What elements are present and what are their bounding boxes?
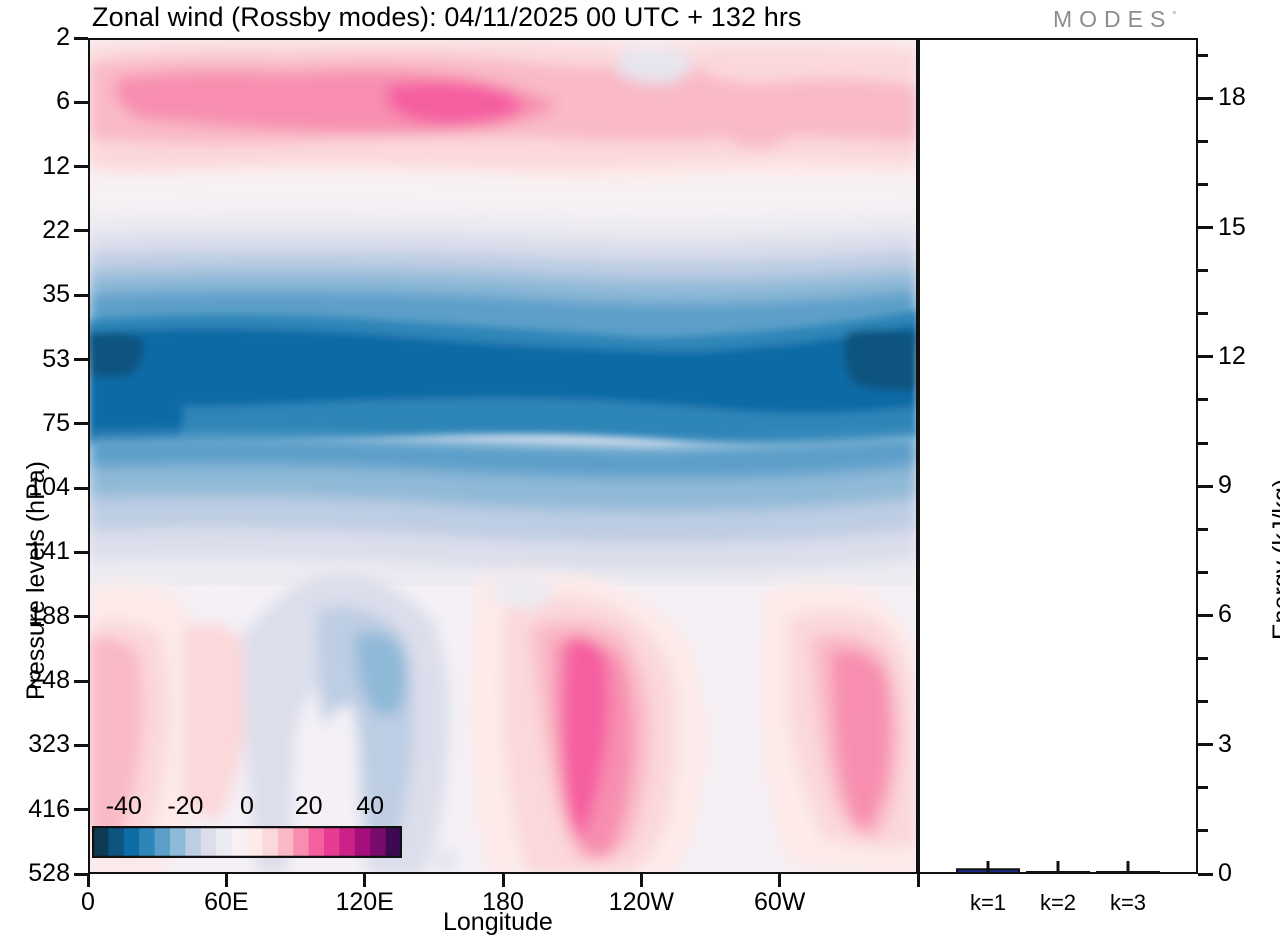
colorbar-swatch: [108, 827, 124, 857]
energy-minor-tick-mark: [1198, 829, 1208, 832]
energy-minor-tick-mark: [1198, 571, 1208, 574]
energy-tick-mark: [1198, 97, 1213, 100]
colorbar-swatch: [216, 827, 232, 857]
energy-minor-tick-mark: [1198, 700, 1208, 703]
watermark-degree-icon: °: [1172, 10, 1176, 21]
pressure-axis: 261222355375104141188248323416528: [0, 38, 88, 874]
longitude-tick-mark: [502, 874, 505, 887]
colorbar-swatch: [278, 827, 294, 857]
pressure-tick-label: 323: [0, 730, 70, 759]
longitude-tick-mark: [87, 874, 90, 887]
colorbar-swatch: [309, 827, 325, 857]
pressure-tick-mark: [74, 358, 88, 361]
longitude-tick-label: 120E: [315, 888, 415, 917]
longitude-tick-label: 120W: [591, 888, 691, 917]
energy-tick-label: 12: [1218, 342, 1246, 371]
wavenumber-labels: k=1k=2k=3: [918, 874, 1198, 924]
energy-tick-label: 9: [1218, 471, 1232, 500]
pressure-tick-mark: [74, 37, 88, 40]
colorbar-tick-label: 40: [320, 792, 420, 821]
colorbar-swatch: [170, 827, 186, 857]
energy-tick-label: 15: [1218, 213, 1246, 242]
pressure-tick-label: 35: [0, 280, 70, 309]
colorbar-swatch: [324, 827, 340, 857]
pressure-tick-label: 416: [0, 795, 70, 824]
pressure-tick-mark: [74, 229, 88, 232]
colorbar-swatch: [293, 827, 309, 857]
colorbar: -40-2002040: [92, 792, 412, 858]
energy-tick-mark: [1198, 355, 1213, 358]
energy-tick-mark: [1198, 743, 1213, 746]
pressure-tick-mark: [74, 165, 88, 168]
energy-tick-label: 6: [1218, 600, 1232, 629]
pressure-tick-mark: [74, 551, 88, 554]
colorbar-swatch: [124, 827, 140, 857]
pressure-tick-label: 12: [0, 152, 70, 181]
pressure-tick-mark: [74, 487, 88, 490]
energy-minor-tick-mark: [1198, 398, 1208, 401]
longitude-tick-label: 60E: [176, 888, 276, 917]
colorbar-swatch: [185, 827, 201, 857]
longitude-tick-mark: [225, 874, 228, 887]
contour-field: [88, 38, 918, 874]
colorbar-swatch: [155, 827, 171, 857]
pressure-tick-label: 22: [0, 216, 70, 245]
colorbar-swatch: [262, 827, 278, 857]
longitude-axis-title: Longitude: [443, 908, 553, 937]
pressure-tick-label: 6: [0, 87, 70, 116]
contour-plot: [88, 38, 918, 874]
modes-watermark: MODES°: [1053, 6, 1176, 33]
pressure-tick-mark: [74, 294, 88, 297]
wavenumber-label: k=3: [1078, 890, 1178, 916]
energy-axis-title: Energy (kJ/kg): [1268, 479, 1280, 640]
longitude-tick-mark: [778, 874, 781, 887]
pressure-tick-mark: [74, 101, 88, 104]
energy-tick-mark: [1198, 485, 1213, 488]
energy-minor-tick-mark: [1198, 528, 1208, 531]
energy-tick-label: 18: [1218, 83, 1246, 112]
longitude-tick-mark: [363, 874, 366, 887]
energy-tick-mark: [1198, 614, 1213, 617]
energy-minor-tick-mark: [1198, 786, 1208, 789]
longitude-tick-label: 60W: [730, 888, 830, 917]
energy-minor-tick-mark: [1198, 657, 1208, 660]
watermark-text: MODES: [1053, 6, 1172, 32]
colorbar-swatch: [370, 827, 386, 857]
pressure-tick-mark: [74, 744, 88, 747]
colorbar-swatch: [355, 827, 371, 857]
longitude-tick-mark: [640, 874, 643, 887]
energy-minor-tick-mark: [1198, 269, 1208, 272]
energy-minor-tick-mark: [1198, 312, 1208, 315]
energy-minor-tick-mark: [1198, 442, 1208, 445]
chart-page: Zonal wind (Rossby modes): 04/11/2025 00…: [0, 0, 1280, 942]
colorbar-swatches: [92, 826, 402, 858]
energy-minor-tick-mark: [1198, 140, 1208, 143]
longitude-tick-label: 0: [38, 888, 138, 917]
energy-minor-tick-mark: [1198, 183, 1208, 186]
pressure-tick-label: 2: [0, 23, 70, 52]
pressure-tick-mark: [74, 680, 88, 683]
colorbar-swatch: [247, 827, 263, 857]
energy-plot: [918, 38, 1198, 874]
pressure-tick-label: 528: [0, 859, 70, 888]
colorbar-swatch: [93, 827, 109, 857]
pressure-tick-mark: [74, 615, 88, 618]
colorbar-swatch: [386, 827, 402, 857]
page-title: Zonal wind (Rossby modes): 04/11/2025 00…: [92, 2, 802, 33]
energy-minor-tick-mark: [1198, 54, 1208, 57]
energy-tick-label: 0: [1218, 859, 1232, 888]
colorbar-swatch: [232, 827, 248, 857]
pressure-axis-title: Pressure levels (hPa): [22, 461, 51, 700]
colorbar-swatch: [339, 827, 355, 857]
energy-tick-label: 3: [1218, 730, 1232, 759]
pressure-tick-label: 53: [0, 345, 70, 374]
pressure-tick-mark: [74, 422, 88, 425]
energy-axis: 0369121518: [1198, 38, 1280, 874]
energy-tick-mark: [1198, 873, 1213, 876]
energy-tick-mark: [1198, 226, 1213, 229]
colorbar-swatch: [139, 827, 155, 857]
colorbar-swatch: [201, 827, 217, 857]
pressure-tick-label: 75: [0, 409, 70, 438]
